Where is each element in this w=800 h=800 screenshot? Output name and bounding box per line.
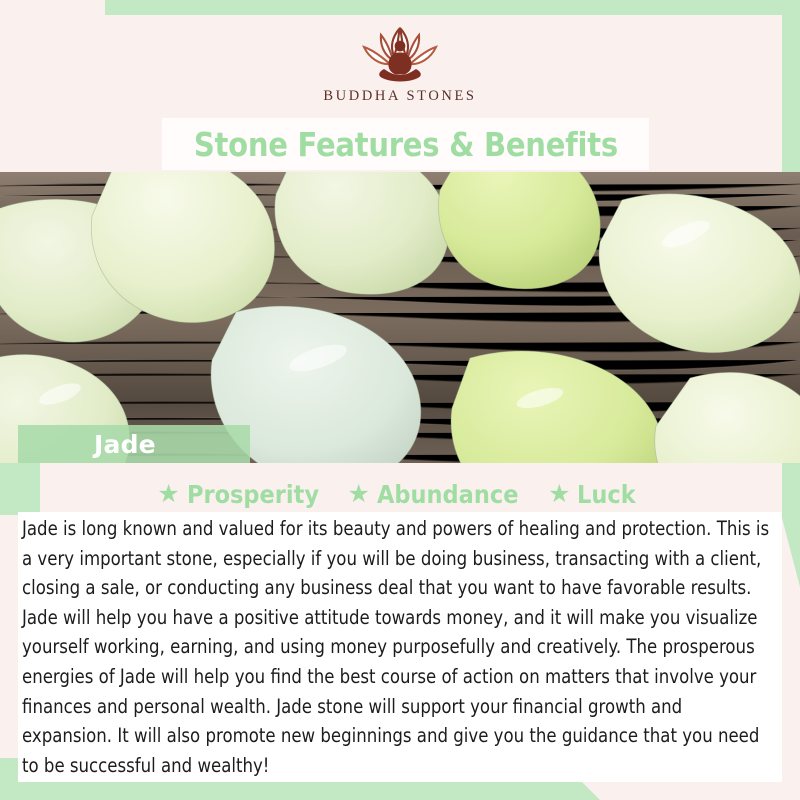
description-text: Jade is long known and valued for its be…: [22, 514, 776, 780]
keyword-label: Abundance: [377, 480, 518, 509]
keyword-item: ★ Prosperity: [157, 480, 333, 509]
keyword-item: ★ Luck: [548, 480, 643, 509]
star-icon: ★: [548, 482, 570, 507]
brand-header: BUDDHA STONES: [0, 15, 800, 118]
star-icon: ★: [347, 482, 369, 507]
title-banner: Stone Features & Benefits: [162, 118, 649, 170]
stone-name-band: Jade: [18, 425, 250, 463]
keyword-label: Prosperity: [187, 480, 319, 509]
lotus-meditation-icon: [340, 23, 460, 85]
keyword-label: Luck: [577, 480, 636, 509]
page-title: Stone Features & Benefits: [194, 125, 618, 164]
stone-name-label: Jade: [94, 430, 156, 459]
star-icon: ★: [157, 482, 179, 507]
keyword-item: ★ Abundance: [347, 480, 534, 509]
decor-top-band: [105, 0, 800, 15]
brand-wordmark: BUDDHA STONES: [323, 88, 476, 105]
description-panel: Jade is long known and valued for its be…: [18, 512, 782, 782]
hero-stone-photo: [0, 172, 800, 463]
keyword-row: ★ Prosperity ★ Abundance ★ Luck: [0, 478, 800, 510]
